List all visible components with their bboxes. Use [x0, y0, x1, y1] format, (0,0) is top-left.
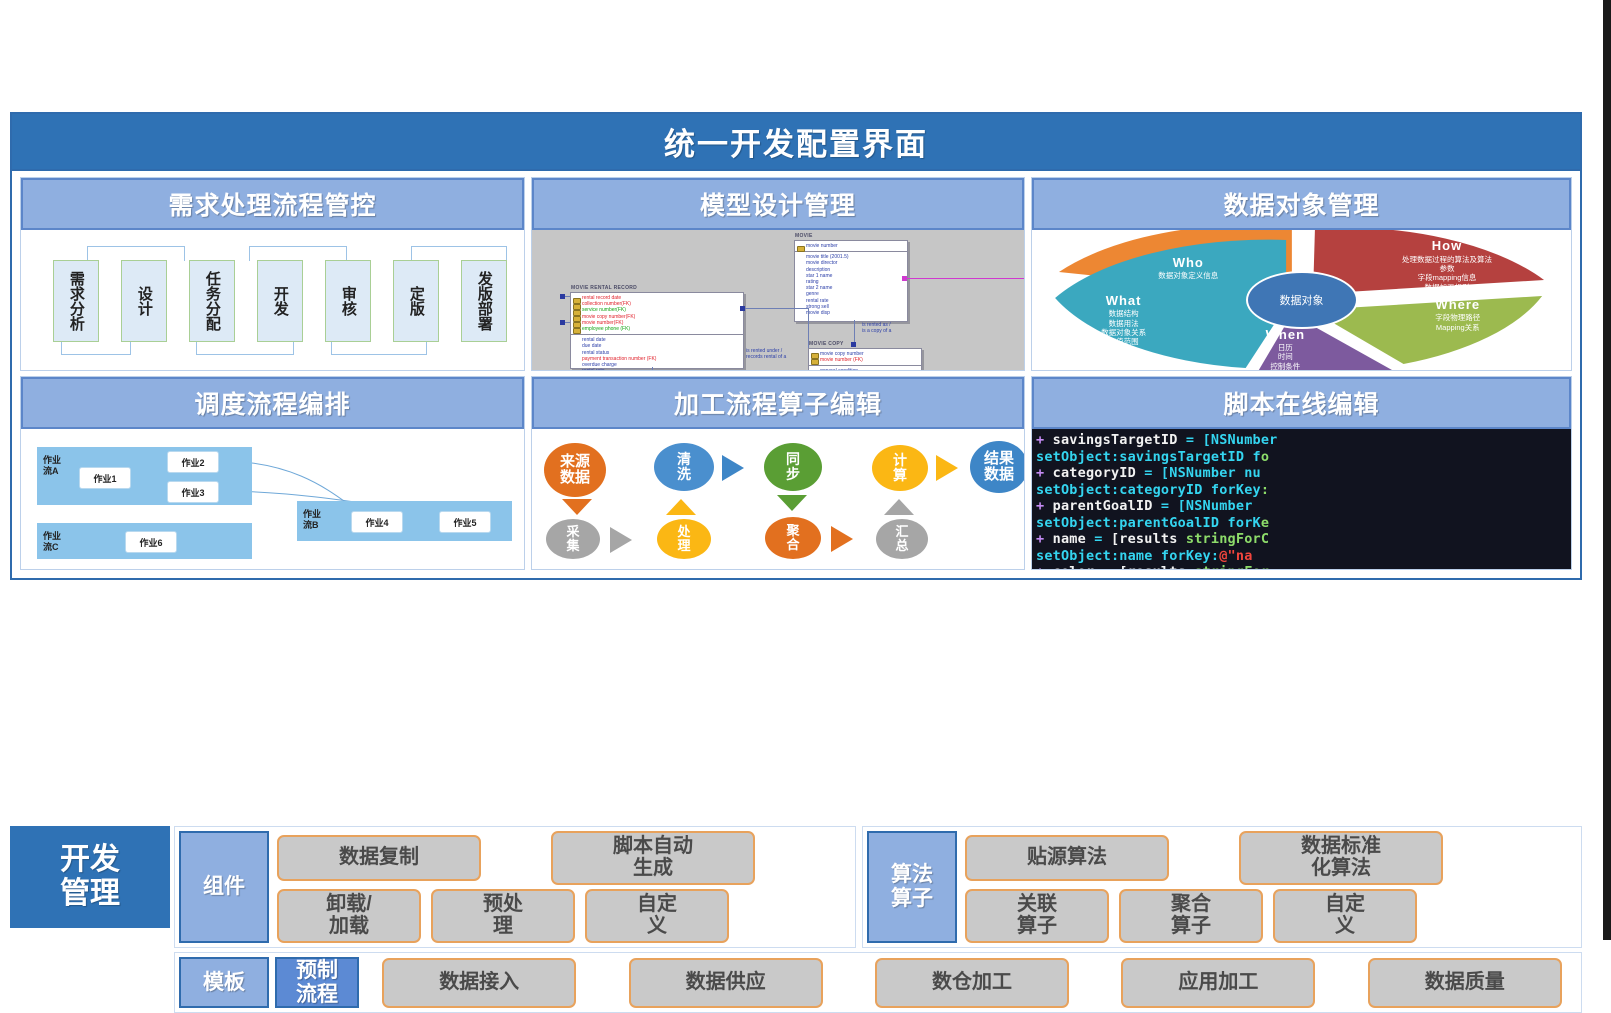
flow-step-6[interactable]: 定版 [393, 260, 439, 342]
chip-row-algorithms-1: 贴源算法 数据标准 化算法 [965, 831, 1577, 885]
flow-step-2[interactable]: 设计 [121, 260, 167, 342]
chip-row-algorithms-2: 关联 算子 聚合 算子 自定 义 [965, 889, 1577, 943]
pie-label-how: How 处理数据过程的算法及算法 参数 字段mapping信息 数据加工规则 数… [1366, 238, 1528, 301]
key-icon-6 [573, 328, 581, 334]
code-line-4: setObject:categoryID forKey: [1036, 482, 1571, 499]
panel-header-requirement: 需求处理流程管控 [21, 178, 524, 230]
op-node-source-data[interactable]: 来源 数据 [544, 443, 606, 497]
dev-row-components: 组件 数据复制 脚本自动 生成 卸载/ 加载 预处 理 自定 义 [174, 826, 1582, 948]
dev-management-bar: 开发管理 [10, 826, 170, 928]
code-line-3: + categoryID = [NSNumber nu [1036, 465, 1571, 482]
schedule-diagram: 作业流A 作业1 作业2 作业3 作业流B 作业4 作业5 作业流C [21, 429, 524, 569]
panel-body-operator: 来源 数据 采 集 处 理 清 洗 同 步 聚 合 [532, 429, 1024, 569]
op-node-clean[interactable]: 清 洗 [654, 443, 714, 491]
job-1[interactable]: 作业1 [79, 467, 131, 489]
op-node-compute[interactable]: 计 算 [872, 445, 928, 491]
category-preset-flow[interactable]: 预制 流程 [275, 957, 359, 1008]
chip-row-templates: 数据接入 数据供应 数仓加工 应用加工 数据质量 [367, 958, 1577, 1008]
chip-row-components-1: 数据复制 脚本自动 生成 [277, 831, 851, 885]
chip-standardize-algorithm[interactable]: 数据标准 化算法 [1239, 831, 1443, 885]
er-note-1: is rented as /is a copy of a [862, 322, 891, 334]
panel-operator-edit[interactable]: 加工流程算子编辑 来源 数据 采 集 处 理 清 洗 同 步 [531, 376, 1025, 570]
panel-header-dataobject: 数据对象管理 [1032, 178, 1571, 230]
flow-step-7[interactable]: 发版部署 [461, 260, 507, 342]
pie-label-where: Where 字段物理路径 Mapping关系 [1388, 297, 1528, 332]
pie-label-who: Who 数据对象定义信息 [1118, 255, 1258, 281]
chips-algorithms: 贴源算法 数据标准 化算法 关联 算子 聚合 算子 自定 义 [957, 831, 1577, 943]
op-node-summary[interactable]: 汇 总 [876, 519, 928, 559]
panel-body-script: + savingsTargetID = [NSNumber setObject:… [1032, 429, 1571, 569]
category-components[interactable]: 组件 [179, 831, 269, 943]
flow-link-top-2 [249, 246, 347, 261]
er-field-section-3: general condition [809, 366, 921, 370]
op-node-aggregate[interactable]: 聚 合 [765, 517, 821, 559]
arrow-right-orange [831, 526, 853, 552]
panel-header-schedule: 调度流程编排 [21, 377, 524, 429]
pie-label-when: When 日历 时间 控制条件 [1226, 327, 1345, 370]
job-3[interactable]: 作业3 [167, 481, 219, 503]
requirement-flowchart: 需求分析 设计 任务分配 开发 审核 定版 发版部署 [21, 230, 524, 370]
job-4[interactable]: 作业4 [351, 511, 403, 533]
panel-title-model: 模型设计管理 [700, 186, 856, 222]
job-5[interactable]: 作业5 [439, 511, 491, 533]
dev-cell-algorithms[interactable]: 算法 算子 贴源算法 数据标准 化算法 关联 算子 聚合 算子 自定 义 [862, 826, 1582, 948]
job-6[interactable]: 作业6 [125, 531, 177, 553]
job-2[interactable]: 作业2 [167, 451, 219, 473]
er-field-section-2: movie title (2001.5) movie director desc… [795, 252, 907, 318]
panel-schedule-orchestration[interactable]: 调度流程编排 作业流A [20, 376, 525, 570]
flow-step-3[interactable]: 任务分配 [189, 260, 235, 342]
chip-source-algorithm[interactable]: 贴源算法 [965, 835, 1169, 881]
dev-management-title: 开发管理 [60, 843, 120, 910]
op-node-process[interactable]: 处 理 [657, 519, 711, 559]
job-flow-b-label: 作业流B [303, 509, 321, 531]
flow-link-top-3 [411, 246, 507, 261]
job-flow-a[interactable]: 作业流A [37, 447, 252, 505]
panel-row-1: 需求处理流程管控 需求分析 设计 任务分配 [20, 177, 1572, 371]
panel-title-dataobject: 数据对象管理 [1223, 186, 1379, 222]
chip-data-copy[interactable]: 数据复制 [277, 835, 481, 881]
chip-preprocess[interactable]: 预处 理 [431, 889, 575, 943]
panel-header-operator: 加工流程算子编辑 [532, 377, 1024, 429]
code-line-2: setObject:savingsTargetID fo [1036, 449, 1571, 466]
chip-row-components-2: 卸载/ 加载 预处 理 自定 义 [277, 889, 851, 943]
er-dot-4 [740, 306, 745, 311]
panel-requirement-process[interactable]: 需求处理流程管控 需求分析 设计 任务分配 [20, 177, 525, 371]
unified-dev-config-frame: 统一开发配置界面 需求处理流程管控 [10, 112, 1582, 820]
panel-script-editor[interactable]: 脚本在线编辑 + savingsTargetID = [NSNumber set… [1031, 376, 1572, 570]
flow-link-bot-1 [61, 340, 131, 355]
er-key-section-3: movie copy number movie number (FK) [809, 349, 921, 366]
key-icon-9 [811, 359, 819, 365]
flow-step-1[interactable]: 需求分析 [53, 260, 99, 342]
chip-data-ingest[interactable]: 数据接入 [382, 958, 576, 1008]
chip-script-autogen[interactable]: 脚本自动 生成 [551, 831, 755, 885]
op-node-sync[interactable]: 同 步 [764, 443, 822, 491]
flow-link-top-1 [87, 246, 185, 261]
chip-app-process[interactable]: 应用加工 [1121, 958, 1315, 1008]
dev-cell-components[interactable]: 组件 数据复制 脚本自动 生成 卸载/ 加载 预处 理 自定 义 [174, 826, 856, 948]
slide-canvas: 统一开发配置界面 需求处理流程管控 [0, 0, 1611, 940]
code-line-7: + name = [results stringForC [1036, 531, 1571, 548]
code-line-6: setObject:parentGoalID forKe [1036, 515, 1571, 532]
panel-body-dataobject: 数据对象 Who 数据对象定义信息 What 数据结构 数据用法 数据对象关系 [1032, 230, 1571, 370]
flow-step-5[interactable]: 审核 [325, 260, 371, 342]
panel-title-requirement: 需求处理流程管控 [168, 186, 376, 222]
chips-templates: 数据接入 数据供应 数仓加工 应用加工 数据质量 [359, 957, 1577, 1008]
arrow-down-green [777, 495, 807, 511]
er-diagram: MOVIE RENTAL RECORD rental record date c… [532, 230, 1024, 370]
job-flow-a-label: 作业流A [43, 455, 61, 477]
panel-body-schedule: 作业流A 作业1 作业2 作业3 作业流B 作业4 作业5 作业流C [21, 429, 524, 569]
flow-step-4[interactable]: 开发 [257, 260, 303, 342]
er-dot-2 [560, 320, 565, 325]
panel-body-requirement: 需求分析 设计 任务分配 开发 审核 定版 发版部署 [21, 230, 524, 370]
er-line-3 [854, 320, 855, 344]
panel-title-script: 脚本在线编辑 [1223, 385, 1379, 421]
arrow-down-orange [562, 499, 592, 515]
er-entity-movie-rental-record[interactable]: MOVIE RENTAL RECORD rental record date c… [570, 292, 744, 369]
panel-body-model: MOVIE RENTAL RECORD rental record date c… [532, 230, 1024, 370]
code-line-1: + savingsTargetID = [NSNumber [1036, 432, 1571, 449]
chip-join-operator[interactable]: 关联 算子 [965, 889, 1109, 943]
er-dot-3 [851, 342, 856, 347]
chip-data-supply[interactable]: 数据供应 [629, 958, 823, 1008]
code-line-8: setObject:name forKey:@"na [1036, 548, 1571, 565]
flow-link-bot-3 [331, 340, 427, 355]
frame-body: 需求处理流程管控 需求分析 设计 任务分配 [10, 171, 1582, 580]
er-line-5 [808, 308, 809, 348]
data-object-pie-chart: 数据对象 Who 数据对象定义信息 What 数据结构 数据用法 数据对象关系 [1032, 230, 1571, 370]
er-line-magenta [904, 278, 1024, 279]
code-editor-area[interactable]: + savingsTargetID = [NSNumber setObject:… [1032, 429, 1571, 569]
main-header: 统一开发配置界面 [10, 112, 1582, 171]
code-line-5: + parentGoalID = [NSNumber [1036, 498, 1571, 515]
arrow-right-blue [722, 455, 744, 481]
arrow-up-gray [884, 499, 914, 515]
chips-components: 数据复制 脚本自动 生成 卸载/ 加载 预处 理 自定 义 [269, 831, 851, 943]
chip-warehouse-process[interactable]: 数仓加工 [875, 958, 1069, 1008]
main-title: 统一开发配置界面 [664, 119, 928, 164]
dev-management-content: 组件 数据复制 脚本自动 生成 卸载/ 加载 预处 理 自定 义 [170, 826, 1582, 928]
panel-header-model: 模型设计管理 [532, 178, 1024, 230]
pie-label-what: What 数据结构 数据用法 数据对象关系 取值范围 [1059, 293, 1188, 347]
er-entity-movie-copy[interactable]: MOVIE COPY movie copy number movie numbe… [808, 348, 922, 370]
er-line-4 [742, 308, 808, 309]
chip-custom-operator[interactable]: 自定 义 [1273, 889, 1417, 943]
key-icon-7 [797, 246, 805, 252]
chip-unload-load[interactable]: 卸载/ 加载 [277, 889, 421, 943]
er-key-section-2: movie number [795, 241, 907, 252]
panel-title-schedule: 调度流程编排 [194, 385, 350, 421]
er-note-2: is rented under /records rental of a [746, 348, 786, 360]
dev-cell-templates[interactable]: 模板 预制 流程 数据接入 数据供应 数仓加工 应用加工 数据质量 [174, 952, 1582, 1013]
panel-model-design[interactable]: 模型设计管理 MOVIE RENTAL RECORD [531, 177, 1025, 371]
right-black-bar [1603, 0, 1611, 940]
code-line-9: + color = [results stringFor [1036, 564, 1571, 569]
op-node-collect[interactable]: 采 集 [546, 519, 600, 559]
er-dot-1 [560, 294, 565, 299]
dev-row-templates: 模板 预制 流程 数据接入 数据供应 数仓加工 应用加工 数据质量 [174, 952, 1582, 1013]
arrow-right-yellow [936, 455, 958, 481]
panel-row-2: 调度流程编排 作业流A [20, 376, 1572, 570]
job-flow-c-label: 作业流C [43, 531, 61, 553]
pie-center-label: 数据对象 [1246, 271, 1358, 329]
panel-header-script: 脚本在线编辑 [1032, 377, 1571, 429]
arrow-right-gray-1 [610, 527, 632, 553]
flow-link-bot-2 [196, 340, 294, 355]
category-algorithm-operators[interactable]: 算法 算子 [867, 831, 957, 943]
arrow-up-yellow [666, 499, 696, 515]
er-entity-movie[interactable]: MOVIE movie number movie title (2001.5) … [794, 240, 908, 322]
er-dot-magenta [902, 276, 907, 281]
chip-data-quality[interactable]: 数据质量 [1368, 958, 1562, 1008]
chip-aggregate-operator[interactable]: 聚合 算子 [1119, 889, 1263, 943]
op-node-result-data[interactable]: 结果 数据 [970, 441, 1024, 493]
panel-data-object[interactable]: 数据对象管理 [1031, 177, 1572, 371]
dev-management-section: 开发管理 组件 数据复制 脚本自动 生成 卸载/ 加载 预处 理 自定 义 [10, 826, 1582, 928]
category-template[interactable]: 模板 [179, 957, 269, 1008]
er-field-section-1: rental date due date rental status payme… [571, 335, 743, 370]
chip-custom-component[interactable]: 自定 义 [585, 889, 729, 943]
er-key-section-1: rental record date collection number(FK)… [571, 293, 743, 335]
panel-title-operator: 加工流程算子编辑 [674, 385, 882, 421]
operator-flow-diagram: 来源 数据 采 集 处 理 清 洗 同 步 聚 合 [532, 429, 1024, 569]
